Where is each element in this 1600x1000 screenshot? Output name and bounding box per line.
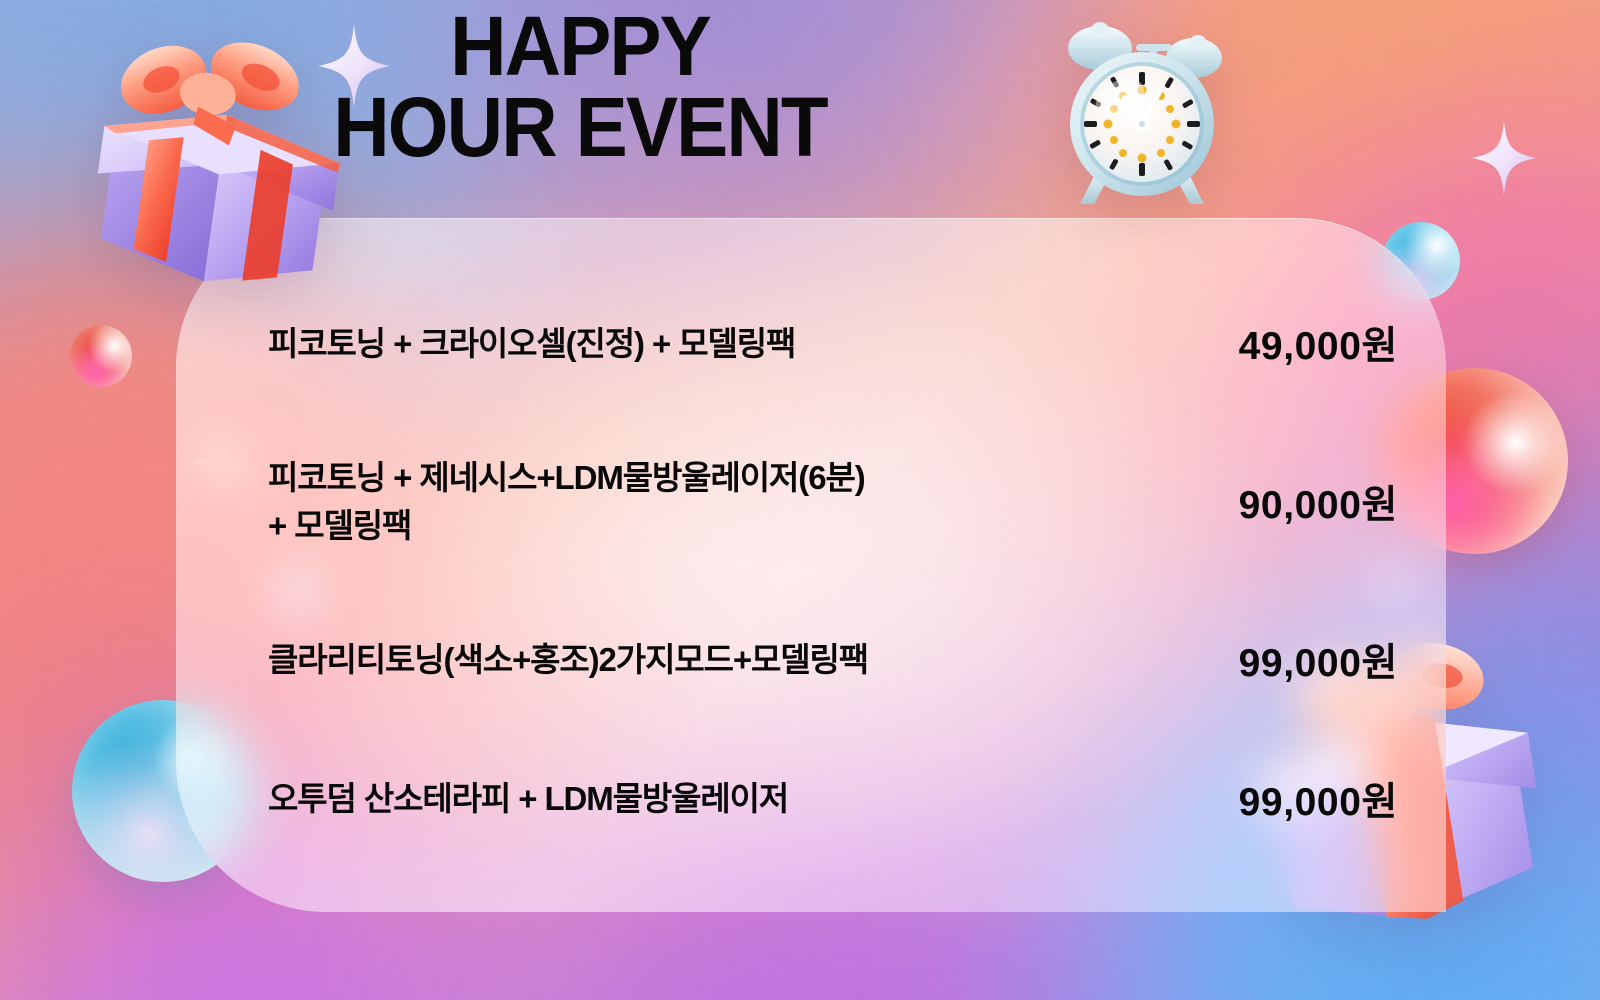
treatment-price: 99,000원: [1098, 632, 1398, 688]
treatment-name: 피코토닝 + 제네시스+LDM물방울레이저(6분) + 모델링팩: [268, 454, 1078, 549]
sparkle-icon: [1472, 120, 1536, 196]
treatment-price: 99,000원: [1098, 771, 1398, 827]
promo-banner: 피코토닝 + 크라이오셀(진정) + 모델링팩 49,000원 피코토닝 + 제…: [0, 0, 1600, 1000]
price-row: 클라리티토닝(색소+홍조)2가지모드+모델링팩 99,000원: [268, 632, 1398, 688]
treatment-name: 오투덤 산소테라피 + LDM물방울레이저: [268, 775, 1078, 823]
price-row: 피코토닝 + 제네시스+LDM물방울레이저(6분) + 모델링팩 90,000원: [268, 454, 1398, 549]
treatment-price: 49,000원: [1098, 315, 1398, 371]
page-title: HAPPY HOUR EVENT: [41, 6, 1120, 169]
price-row: 오투덤 산소테라피 + LDM물방울레이저 99,000원: [268, 771, 1398, 827]
price-row: 피코토닝 + 크라이오셀(진정) + 모델링팩 49,000원: [268, 315, 1398, 371]
treatment-name: 피코토닝 + 크라이오셀(진정) + 모델링팩: [268, 320, 1078, 368]
sphere-red-small: [70, 325, 132, 387]
treatment-price: 90,000원: [1098, 474, 1398, 530]
treatment-name: 클라리티토닝(색소+홍조)2가지모드+모델링팩: [268, 636, 1078, 684]
price-list: 피코토닝 + 크라이오셀(진정) + 모델링팩 49,000원 피코토닝 + 제…: [176, 218, 1446, 912]
title-text: HAPPY HOUR EVENT: [333, 0, 827, 174]
